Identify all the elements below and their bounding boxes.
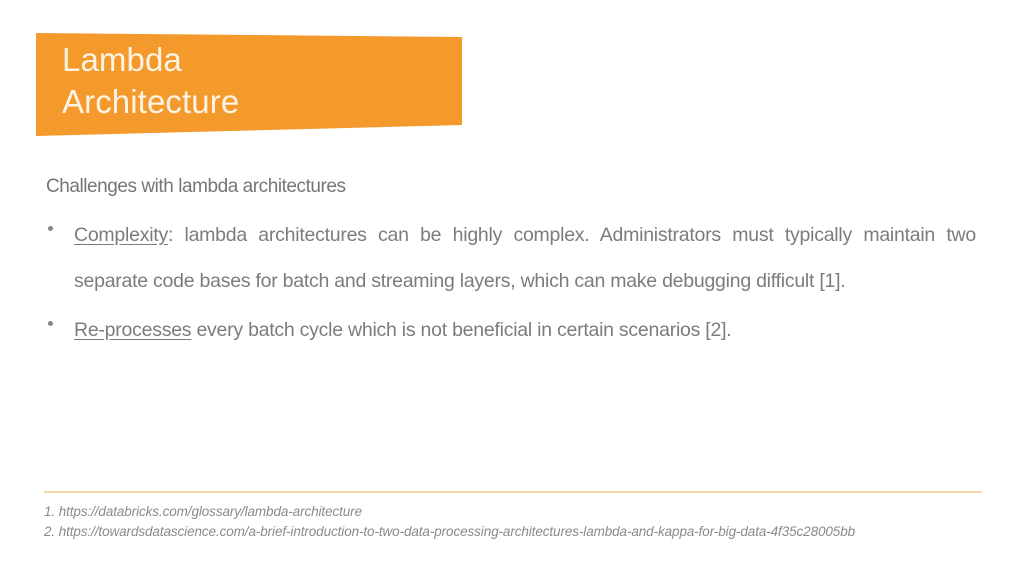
bullet-dot-icon (48, 321, 53, 326)
bullet-text: Re-processes every batch cycle which is … (74, 308, 976, 354)
bullet-list: Complexity: lambda architectures can be … (46, 213, 976, 354)
footnote-list: 1. https://databricks.com/glossary/lambd… (44, 502, 984, 542)
slide: Lambda Architecture Challenges with lamb… (0, 0, 1024, 576)
bullet-text: Complexity: lambda architectures can be … (74, 213, 976, 305)
page-title: Lambda Architecture (62, 39, 442, 123)
bullet-body: every batch cycle which is not beneficia… (191, 319, 731, 341)
list-item: Complexity: lambda architectures can be … (46, 213, 976, 305)
footnote-item: 2. https://towardsdatascience.com/a-brie… (44, 522, 984, 542)
bullet-dot-icon (48, 226, 53, 231)
list-item: Re-processes every batch cycle which is … (46, 308, 976, 354)
footnote-divider (44, 491, 982, 493)
bullet-term: Re-processes (74, 319, 191, 341)
footnote-item: 1. https://databricks.com/glossary/lambd… (44, 502, 984, 522)
section-heading: Challenges with lambda architectures (46, 176, 976, 199)
body-content: Challenges with lambda architectures Com… (46, 176, 976, 358)
bullet-term: Complexity (74, 224, 168, 246)
title-banner: Lambda Architecture (36, 33, 462, 136)
bullet-body: : lambda architectures can be highly com… (74, 224, 976, 292)
